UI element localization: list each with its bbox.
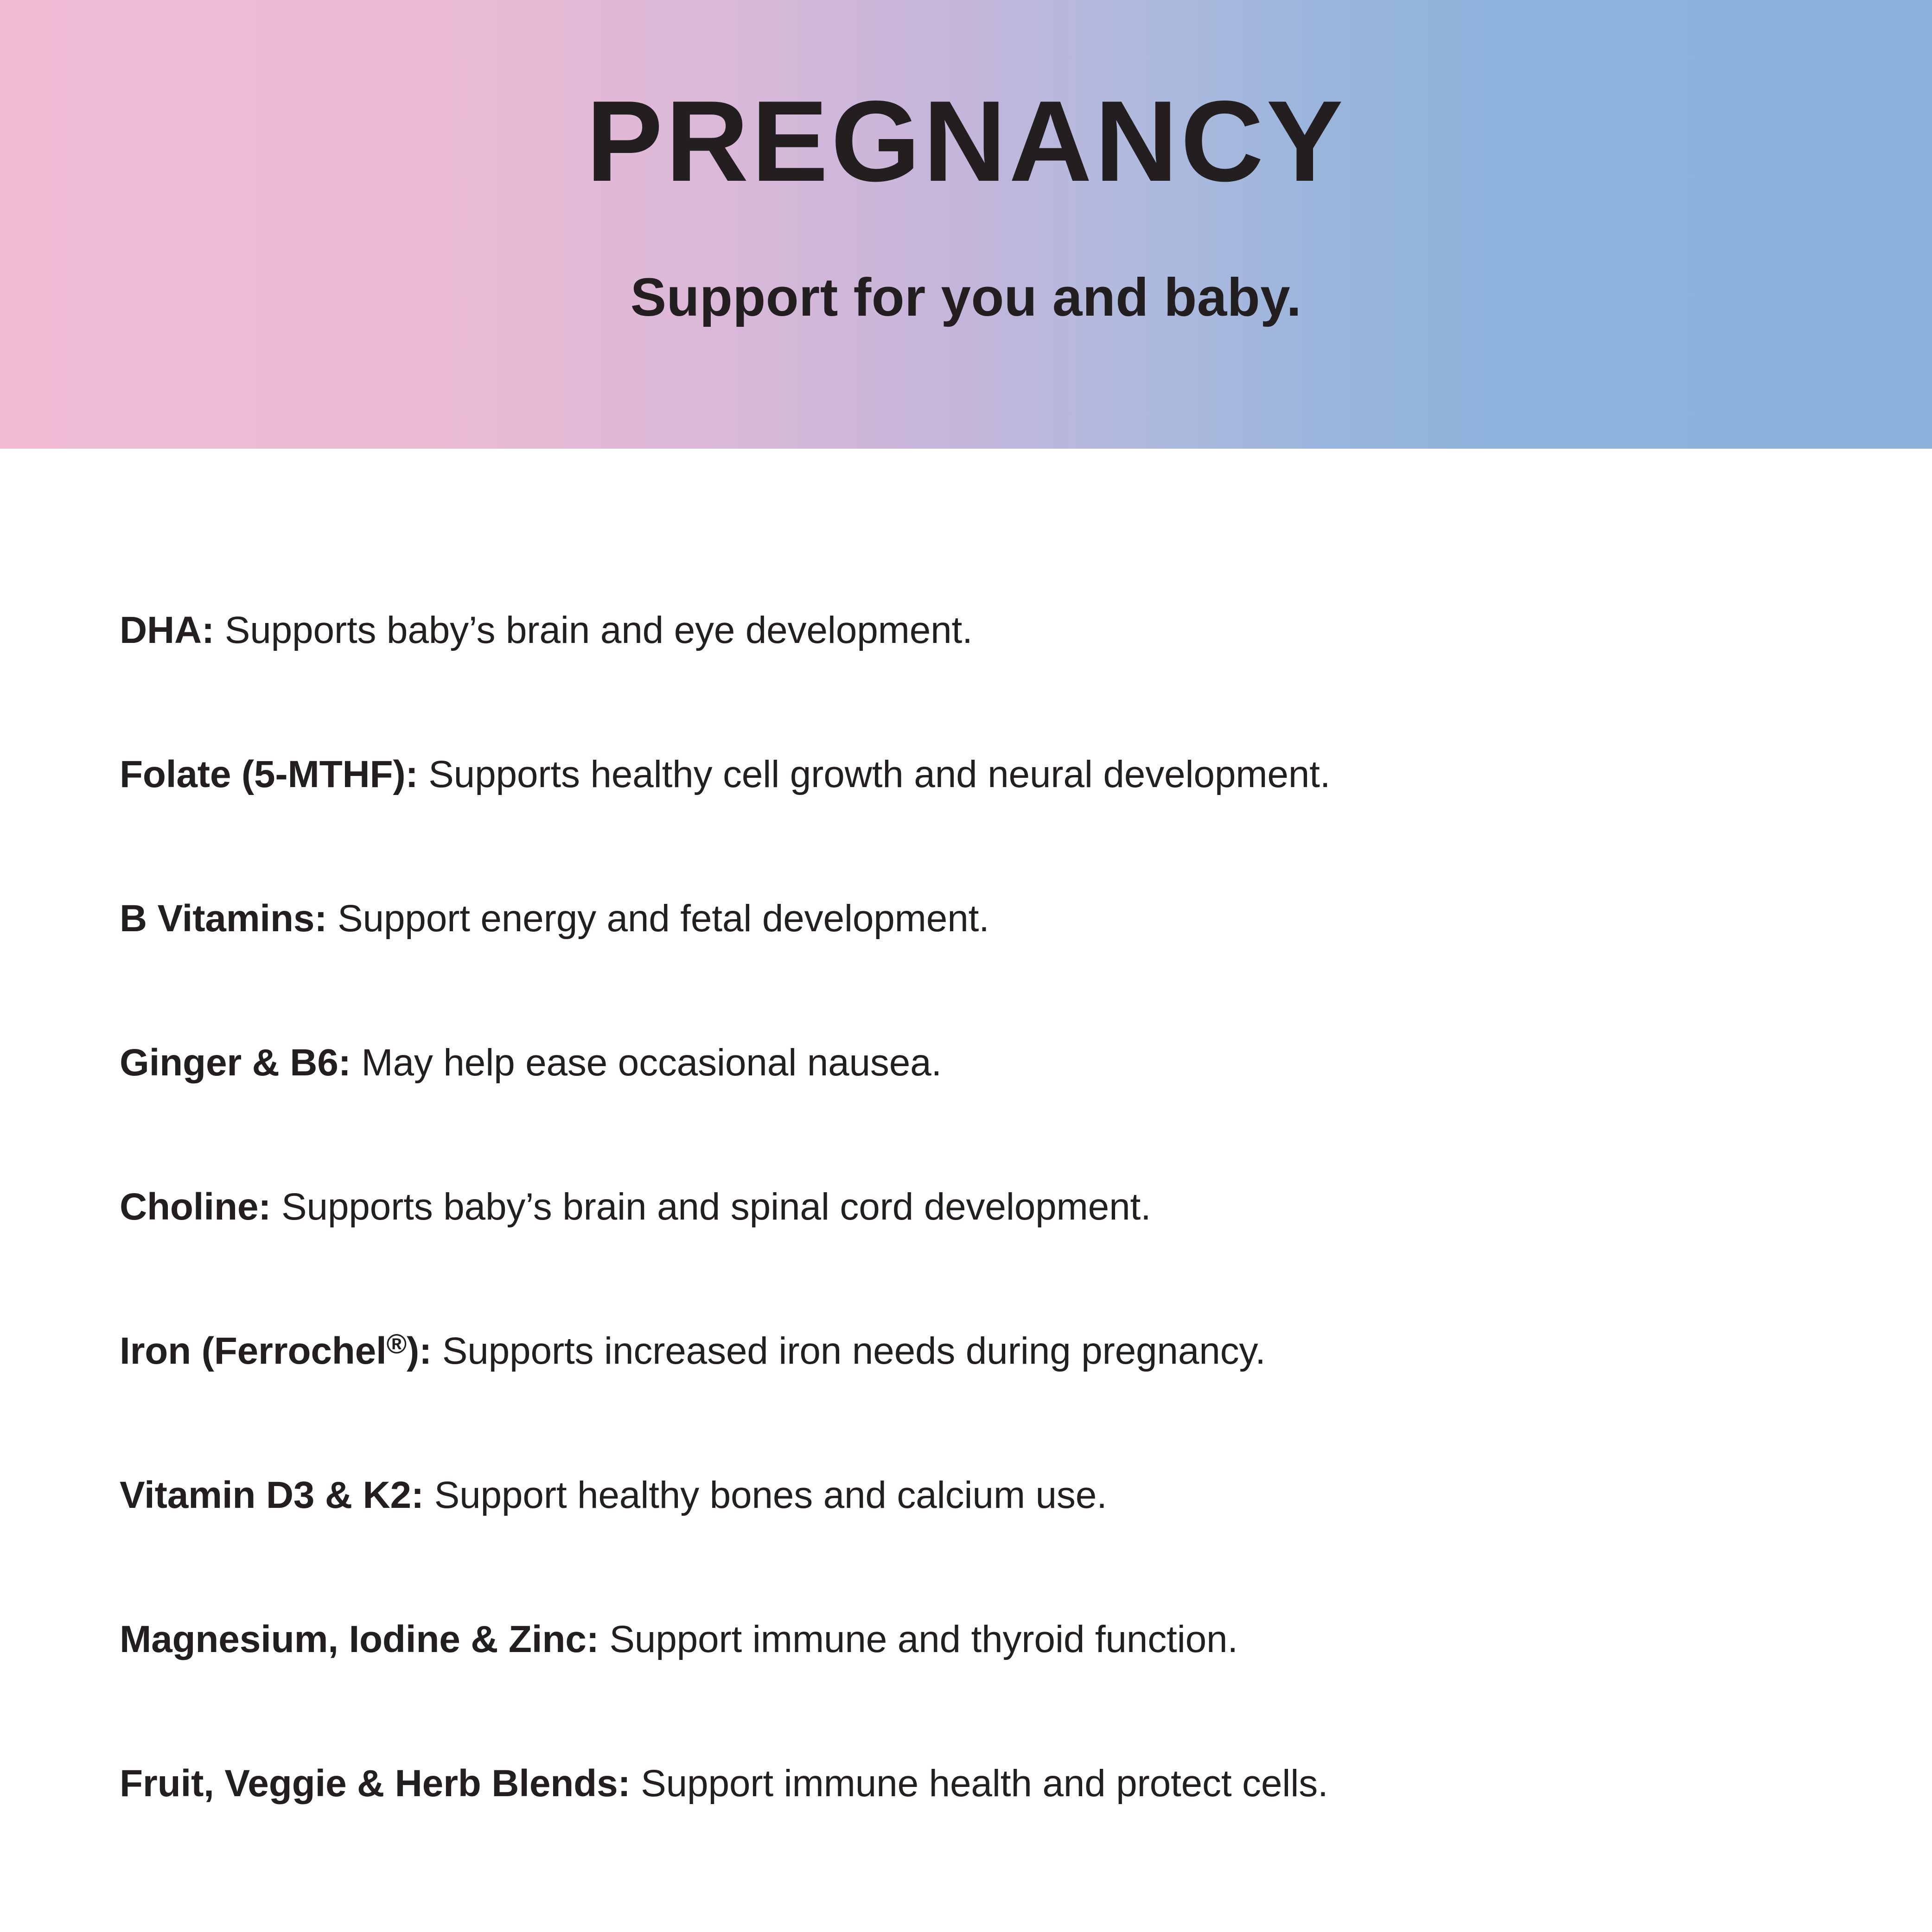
- benefit-description: Supports healthy cell growth and neural …: [418, 753, 1331, 795]
- benefit-description: Supports baby’s brain and spinal cord de…: [271, 1186, 1151, 1228]
- benefit-line: Fruit, Veggie & Herb Blends: Support imm…: [120, 1761, 1328, 1806]
- benefit-description: Support energy and fetal development.: [327, 897, 989, 940]
- benefit-description: Support immune and thyroid function.: [599, 1618, 1238, 1660]
- list-item: Magnesium, Iodine & Zinc: Support immune…: [120, 1579, 1835, 1723]
- benefit-line: Choline: Supports baby’s brain and spina…: [120, 1185, 1151, 1229]
- list-item: Folate (5-MTHF): Supports healthy cell g…: [120, 714, 1835, 858]
- benefit-term: Folate (5-MTHF):: [120, 753, 418, 795]
- benefit-description: Support healthy bones and calcium use.: [424, 1474, 1107, 1516]
- benefit-term: Iron (Ferrochel®):: [120, 1330, 432, 1372]
- list-item: Vitamin D3 & K2: Support healthy bones a…: [120, 1435, 1835, 1579]
- benefit-line: Iron (Ferrochel®): Supports increased ir…: [120, 1329, 1266, 1373]
- benefit-description: Support immune health and protect cells.: [631, 1762, 1328, 1805]
- list-item: B Vitamins: Support energy and fetal dev…: [120, 858, 1835, 1003]
- benefit-term: Magnesium, Iodine & Zinc:: [120, 1618, 599, 1660]
- list-item: Fruit, Veggie & Herb Blends: Support imm…: [120, 1723, 1835, 1868]
- benefit-term-suffix: ):: [407, 1330, 432, 1372]
- benefit-term: Ginger & B6:: [120, 1042, 351, 1084]
- list-item: Choline: Supports baby’s brain and spina…: [120, 1147, 1835, 1291]
- benefit-term: Vitamin D3 & K2:: [120, 1474, 424, 1516]
- benefit-line: Vitamin D3 & K2: Support healthy bones a…: [120, 1473, 1107, 1518]
- benefit-line: DHA: Supports baby’s brain and eye devel…: [120, 608, 973, 653]
- benefit-line: Ginger & B6: May help ease occasional na…: [120, 1041, 942, 1085]
- benefit-term: Fruit, Veggie & Herb Blends:: [120, 1762, 631, 1805]
- registered-trademark-icon: ®: [387, 1329, 407, 1360]
- benefit-description: Supports baby’s brain and eye developmen…: [214, 609, 973, 651]
- benefit-description: May help ease occasional nausea.: [351, 1042, 942, 1084]
- benefit-line: Magnesium, Iodine & Zinc: Support immune…: [120, 1617, 1238, 1662]
- benefits-list: DHA: Supports baby’s brain and eye devel…: [120, 570, 1835, 1868]
- page-title: PREGNANCY: [0, 83, 1932, 198]
- benefit-term: Choline:: [120, 1186, 271, 1228]
- benefit-term: B Vitamins:: [120, 897, 327, 940]
- benefit-line: B Vitamins: Support energy and fetal dev…: [120, 896, 989, 941]
- page-subtitle: Support for you and baby.: [0, 270, 1932, 324]
- benefit-term: DHA:: [120, 609, 214, 651]
- list-item: DHA: Supports baby’s brain and eye devel…: [120, 570, 1835, 714]
- list-item: Iron (Ferrochel®): Supports increased ir…: [120, 1291, 1835, 1435]
- header-gradient-banner: PREGNANCY Support for you and baby.: [0, 0, 1932, 449]
- product-benefits-graphic: PREGNANCY Support for you and baby. DHA:…: [0, 0, 1932, 1932]
- benefit-description: Supports increased iron needs during pre…: [432, 1330, 1266, 1372]
- list-item: Ginger & B6: May help ease occasional na…: [120, 1003, 1835, 1147]
- benefit-line: Folate (5-MTHF): Supports healthy cell g…: [120, 752, 1330, 797]
- benefit-term-prefix: Iron (Ferrochel: [120, 1330, 387, 1372]
